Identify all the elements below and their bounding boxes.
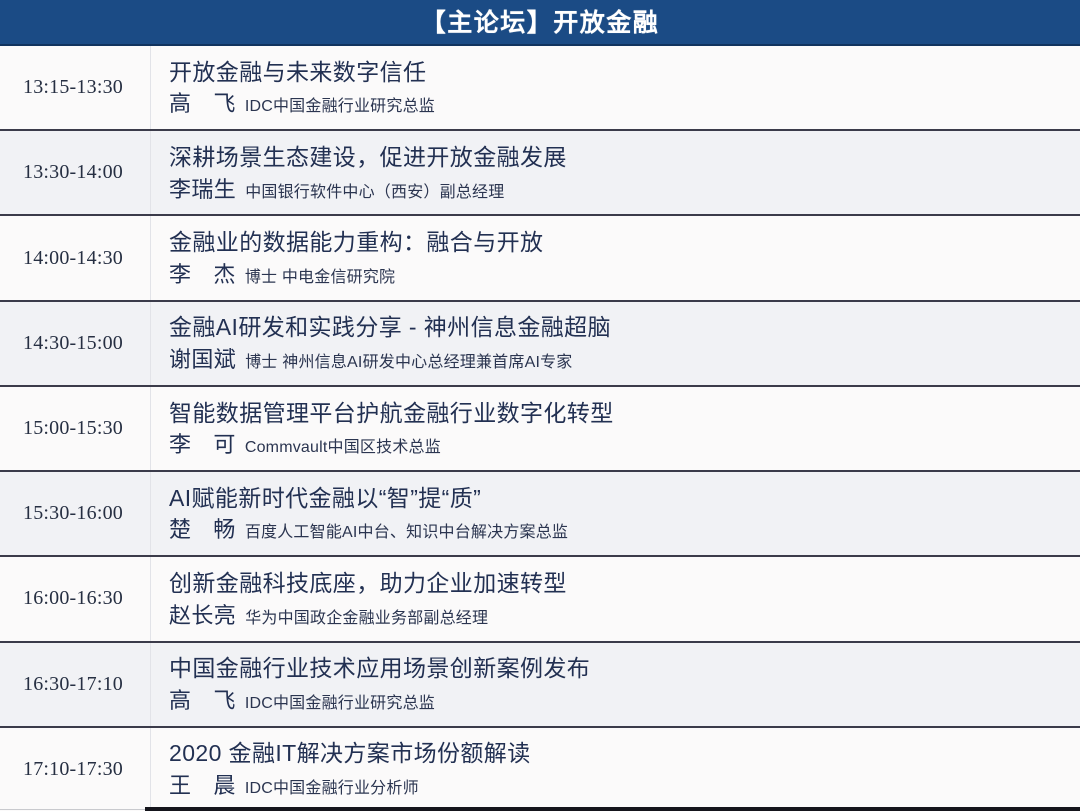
session-time-cell: 15:00-15:30 [0,387,150,470]
speaker-surname: 李 [169,262,191,287]
session-time-cell: 13:30-14:00 [0,131,150,214]
speaker-surname: 李瑞生 [169,177,236,202]
speaker-line: 李瑞生中国银行软件中心（西安）副总经理 [169,174,1080,205]
speaker-line: 高飞IDC中国金融行业研究总监 [169,685,1080,716]
agenda-row: 14:00-14:30金融业的数据能力重构：融合与开放李杰博士 中电金信研究院 [0,216,1080,301]
bottom-rule [145,807,1080,811]
speaker-surname: 赵长亮 [169,603,236,628]
session-detail-cell: 智能数据管理平台护航金融行业数字化转型李可Commvault中国区技术总监 [150,387,1080,470]
speaker-surname: 高 [169,91,191,116]
speaker-surname: 谢国斌 [169,347,236,372]
session-detail-cell: 金融业的数据能力重构：融合与开放李杰博士 中电金信研究院 [150,216,1080,299]
agenda-row: 14:30-15:00金融AI研发和实践分享 - 神州信息金融超脑谢国斌博士 神… [0,302,1080,387]
session-time-cell: 14:00-14:30 [0,216,150,299]
speaker-line: 谢国斌博士 神州信息AI研发中心总经理兼首席AI专家 [169,344,1080,375]
agenda-row: 13:15-13:30开放金融与未来数字信任高飞IDC中国金融行业研究总监 [0,46,1080,131]
speaker-surname: 高 [169,688,191,713]
speaker-line: 高飞IDC中国金融行业研究总监 [169,88,1080,119]
session-topic: 金融业的数据能力重构：融合与开放 [169,226,1080,259]
session-topic: 创新金融科技底座，助力企业加速转型 [169,567,1080,600]
session-time: 14:00-14:30 [23,247,123,270]
speaker-given-name: 畅 [213,517,235,542]
speaker-title: IDC中国金融行业研究总监 [245,693,435,716]
agenda-row: 17:10-17:302020 金融IT解决方案市场份额解读王晨IDC中国金融行… [0,728,1080,811]
speaker-title: 百度人工智能AI中台、知识中台解决方案总监 [245,522,568,545]
page-title: 【主论坛】开放金融 [421,11,660,36]
session-detail-cell: AI赋能新时代金融以“智”提“质”楚畅百度人工智能AI中台、知识中台解决方案总监 [150,472,1080,555]
speaker-title: Commvault中国区技术总监 [245,437,441,460]
speaker-surname: 李 [169,432,191,457]
session-time: 13:30-14:00 [23,161,123,184]
session-time: 15:30-16:00 [23,502,123,525]
session-detail-cell: 2020 金融IT解决方案市场份额解读王晨IDC中国金融行业分析师 [150,728,1080,811]
session-time-cell: 13:15-13:30 [0,46,150,129]
speaker-surname: 王 [169,773,191,798]
agenda-row: 13:30-14:00深耕场景生态建设，促进开放金融发展李瑞生中国银行软件中心（… [0,131,1080,216]
speaker-title: IDC中国金融行业分析师 [245,778,419,801]
session-topic: 智能数据管理平台护航金融行业数字化转型 [169,397,1080,430]
speaker-line: 李可Commvault中国区技术总监 [169,429,1080,460]
speaker-title: 中国银行软件中心（西安）副总经理 [245,182,504,205]
session-detail-cell: 开放金融与未来数字信任高飞IDC中国金融行业研究总监 [150,46,1080,129]
session-time-cell: 16:30-17:10 [0,643,150,726]
session-time-cell: 17:10-17:30 [0,728,150,811]
session-detail-cell: 中国金融行业技术应用场景创新案例发布高飞IDC中国金融行业研究总监 [150,643,1080,726]
speaker-name: 李瑞生 [169,174,236,205]
speaker-name: 李杰 [169,259,236,290]
session-time: 14:30-15:00 [23,332,123,355]
speaker-line: 楚畅百度人工智能AI中台、知识中台解决方案总监 [169,514,1080,545]
speaker-given-name: 可 [213,432,235,457]
agenda-card: 【主论坛】开放金融 13:15-13:30开放金融与未来数字信任高飞IDC中国金… [0,0,1080,811]
speaker-given-name: 飞 [213,688,235,713]
agenda-row: 16:00-16:30创新金融科技底座，助力企业加速转型赵长亮华为中国政企金融业… [0,557,1080,642]
session-topic: 开放金融与未来数字信任 [169,56,1080,89]
speaker-given-name: 飞 [213,91,235,116]
speaker-title: IDC中国金融行业研究总监 [245,96,435,119]
session-topic: 中国金融行业技术应用场景创新案例发布 [169,652,1080,685]
session-time-cell: 15:30-16:00 [0,472,150,555]
speaker-surname: 楚 [169,517,191,542]
session-topic: 2020 金融IT解决方案市场份额解读 [169,737,1080,770]
speaker-line: 李杰博士 中电金信研究院 [169,259,1080,290]
session-time: 13:15-13:30 [23,76,123,99]
speaker-title: 博士 神州信息AI研发中心总经理兼首席AI专家 [245,352,572,375]
session-detail-cell: 金融AI研发和实践分享 - 神州信息金融超脑谢国斌博士 神州信息AI研发中心总经… [150,302,1080,385]
session-topic: 深耕场景生态建设，促进开放金融发展 [169,141,1080,174]
speaker-given-name: 晨 [213,773,235,798]
session-time: 15:00-15:30 [23,417,123,440]
session-time-cell: 16:00-16:30 [0,557,150,640]
session-time: 17:10-17:30 [23,758,123,781]
speaker-name: 李可 [169,429,236,460]
session-detail-cell: 创新金融科技底座，助力企业加速转型赵长亮华为中国政企金融业务部副总经理 [150,557,1080,640]
speaker-name: 高飞 [169,88,236,119]
speaker-name: 高飞 [169,685,236,716]
speaker-title: 华为中国政企金融业务部副总经理 [245,608,488,631]
session-topic: 金融AI研发和实践分享 - 神州信息金融超脑 [169,311,1080,344]
session-detail-cell: 深耕场景生态建设，促进开放金融发展李瑞生中国银行软件中心（西安）副总经理 [150,131,1080,214]
agenda-row: 15:00-15:30智能数据管理平台护航金融行业数字化转型李可Commvaul… [0,387,1080,472]
session-topic: AI赋能新时代金融以“智”提“质” [169,482,1080,515]
speaker-line: 赵长亮华为中国政企金融业务部副总经理 [169,600,1080,631]
agenda-row: 16:30-17:10中国金融行业技术应用场景创新案例发布高飞IDC中国金融行业… [0,643,1080,728]
session-time: 16:00-16:30 [23,587,123,610]
speaker-name: 王晨 [169,770,236,801]
session-time: 16:30-17:10 [23,673,123,696]
agenda-row: 15:30-16:00AI赋能新时代金融以“智”提“质”楚畅百度人工智能AI中台… [0,472,1080,557]
forum-banner: 【主论坛】开放金融 [0,0,1080,46]
speaker-given-name: 杰 [213,262,235,287]
session-time-cell: 14:30-15:00 [0,302,150,385]
agenda-row-list: 13:15-13:30开放金融与未来数字信任高飞IDC中国金融行业研究总监13:… [0,46,1080,811]
bottom-rule-left [0,809,145,810]
speaker-name: 赵长亮 [169,600,236,631]
speaker-title: 博士 中电金信研究院 [245,267,395,290]
speaker-name: 谢国斌 [169,344,236,375]
speaker-name: 楚畅 [169,514,236,545]
speaker-line: 王晨IDC中国金融行业分析师 [169,770,1080,801]
